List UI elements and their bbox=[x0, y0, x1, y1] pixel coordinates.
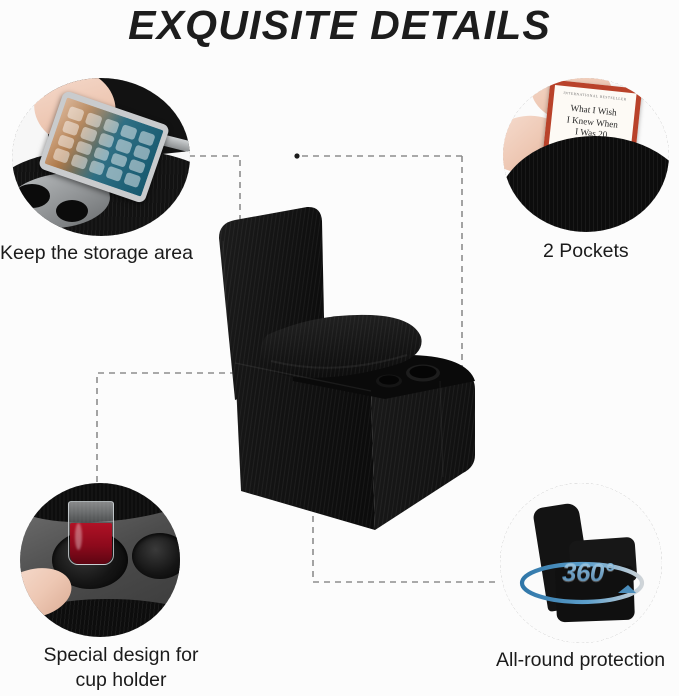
connector-dot-pockets bbox=[294, 153, 299, 158]
callout-protection: 360° All-round protection bbox=[500, 483, 662, 643]
wine-glass bbox=[68, 501, 114, 565]
page-title: EXQUISITE DETAILS bbox=[0, 2, 679, 48]
rotation-badge: 360° bbox=[562, 557, 614, 588]
storage-cup-hole-1 bbox=[14, 184, 50, 208]
callout-protection-bubble: 360° bbox=[500, 483, 662, 643]
callout-storage-caption: Keep the storage area bbox=[0, 242, 220, 265]
callout-storage-bubble bbox=[12, 78, 190, 236]
callout-pockets-bubble: INTERNATIONAL BESTSELLER What I Wish I K… bbox=[503, 78, 669, 232]
cup-holder-well-second bbox=[132, 533, 180, 579]
tablet-app-icons bbox=[52, 106, 155, 188]
storage-cup-hole-2 bbox=[56, 200, 88, 222]
callout-pockets-caption: 2 Pockets bbox=[543, 240, 679, 263]
scene-keep-the-storage-area bbox=[12, 78, 190, 236]
scene-2-pockets: INTERNATIONAL BESTSELLER What I Wish I K… bbox=[503, 78, 669, 232]
callout-storage: Keep the storage area bbox=[12, 78, 190, 236]
callout-protection-caption: All-round protection bbox=[496, 649, 679, 672]
hero-product-image bbox=[175, 185, 505, 530]
callout-cupholder-caption: Special design for cup holder bbox=[0, 643, 244, 693]
book-kicker: INTERNATIONAL BESTSELLER bbox=[554, 90, 636, 103]
scene-special-design-for-cup-holder bbox=[20, 483, 180, 637]
product-infographic: EXQUISITE DETAILS bbox=[0, 0, 679, 696]
callout-cupholder: Special design for cup holder bbox=[20, 483, 180, 637]
callout-cupholder-bubble bbox=[20, 483, 180, 637]
callout-pockets: INTERNATIONAL BESTSELLER What I Wish I K… bbox=[503, 78, 669, 232]
scene-all-round-protection: 360° bbox=[500, 483, 662, 643]
